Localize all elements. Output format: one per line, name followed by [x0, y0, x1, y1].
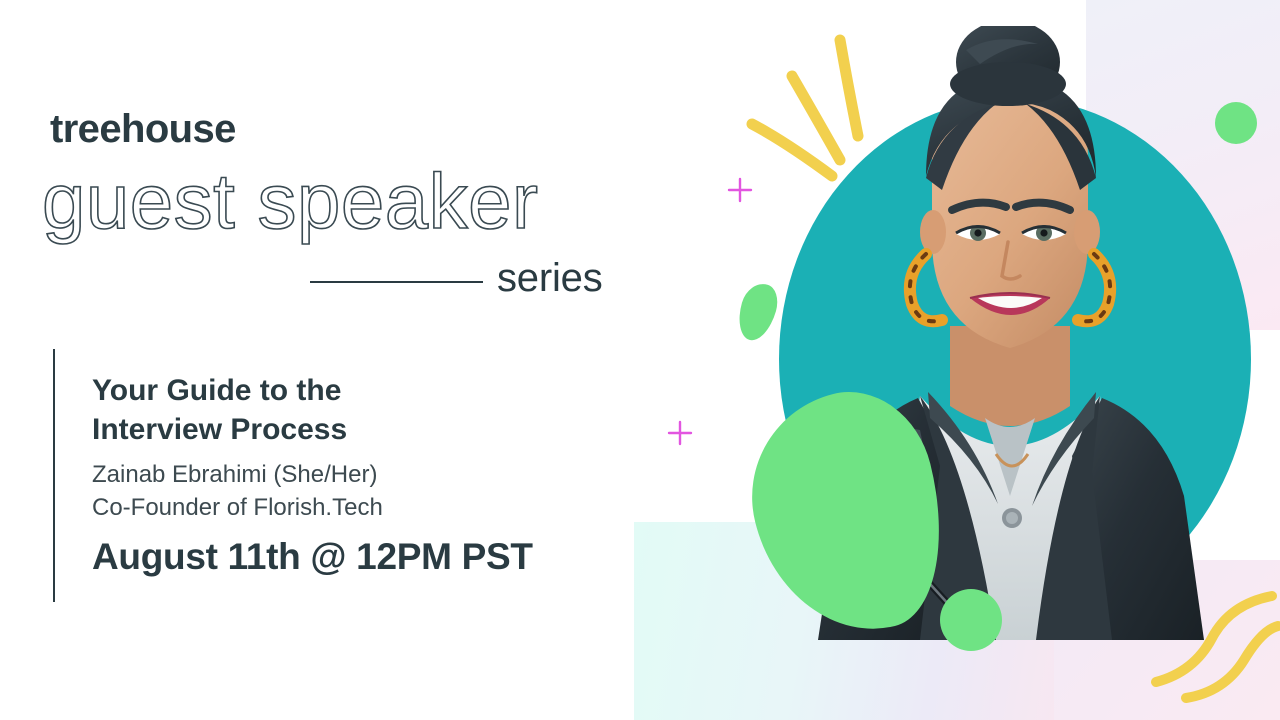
yellow-wave-strokes [1150, 590, 1280, 720]
plus-mark-icon-lower [666, 419, 694, 447]
treehouse-wordmark: treehouse [50, 107, 236, 152]
green-dot-top-right [1215, 102, 1257, 144]
promo-slide: treehouse guest speaker series Your Guid… [0, 0, 1280, 720]
guest-speaker-headline: guest speaker [42, 162, 538, 240]
vertical-accent-rule [53, 349, 55, 602]
green-dot-bottom [940, 589, 1002, 651]
series-label: series [497, 256, 603, 301]
yellow-burst-strokes [740, 30, 880, 190]
green-teardrop-blob [733, 279, 783, 344]
speaker-name: Zainab Ebrahimi (She/Her) [92, 461, 377, 489]
speaker-role: Co-Founder of Florish.Tech [92, 494, 383, 522]
series-divider-rule [310, 281, 483, 283]
event-datetime: August 11th @ 12PM PST [92, 536, 533, 578]
talk-title: Your Guide to the Interview Process [92, 371, 347, 449]
